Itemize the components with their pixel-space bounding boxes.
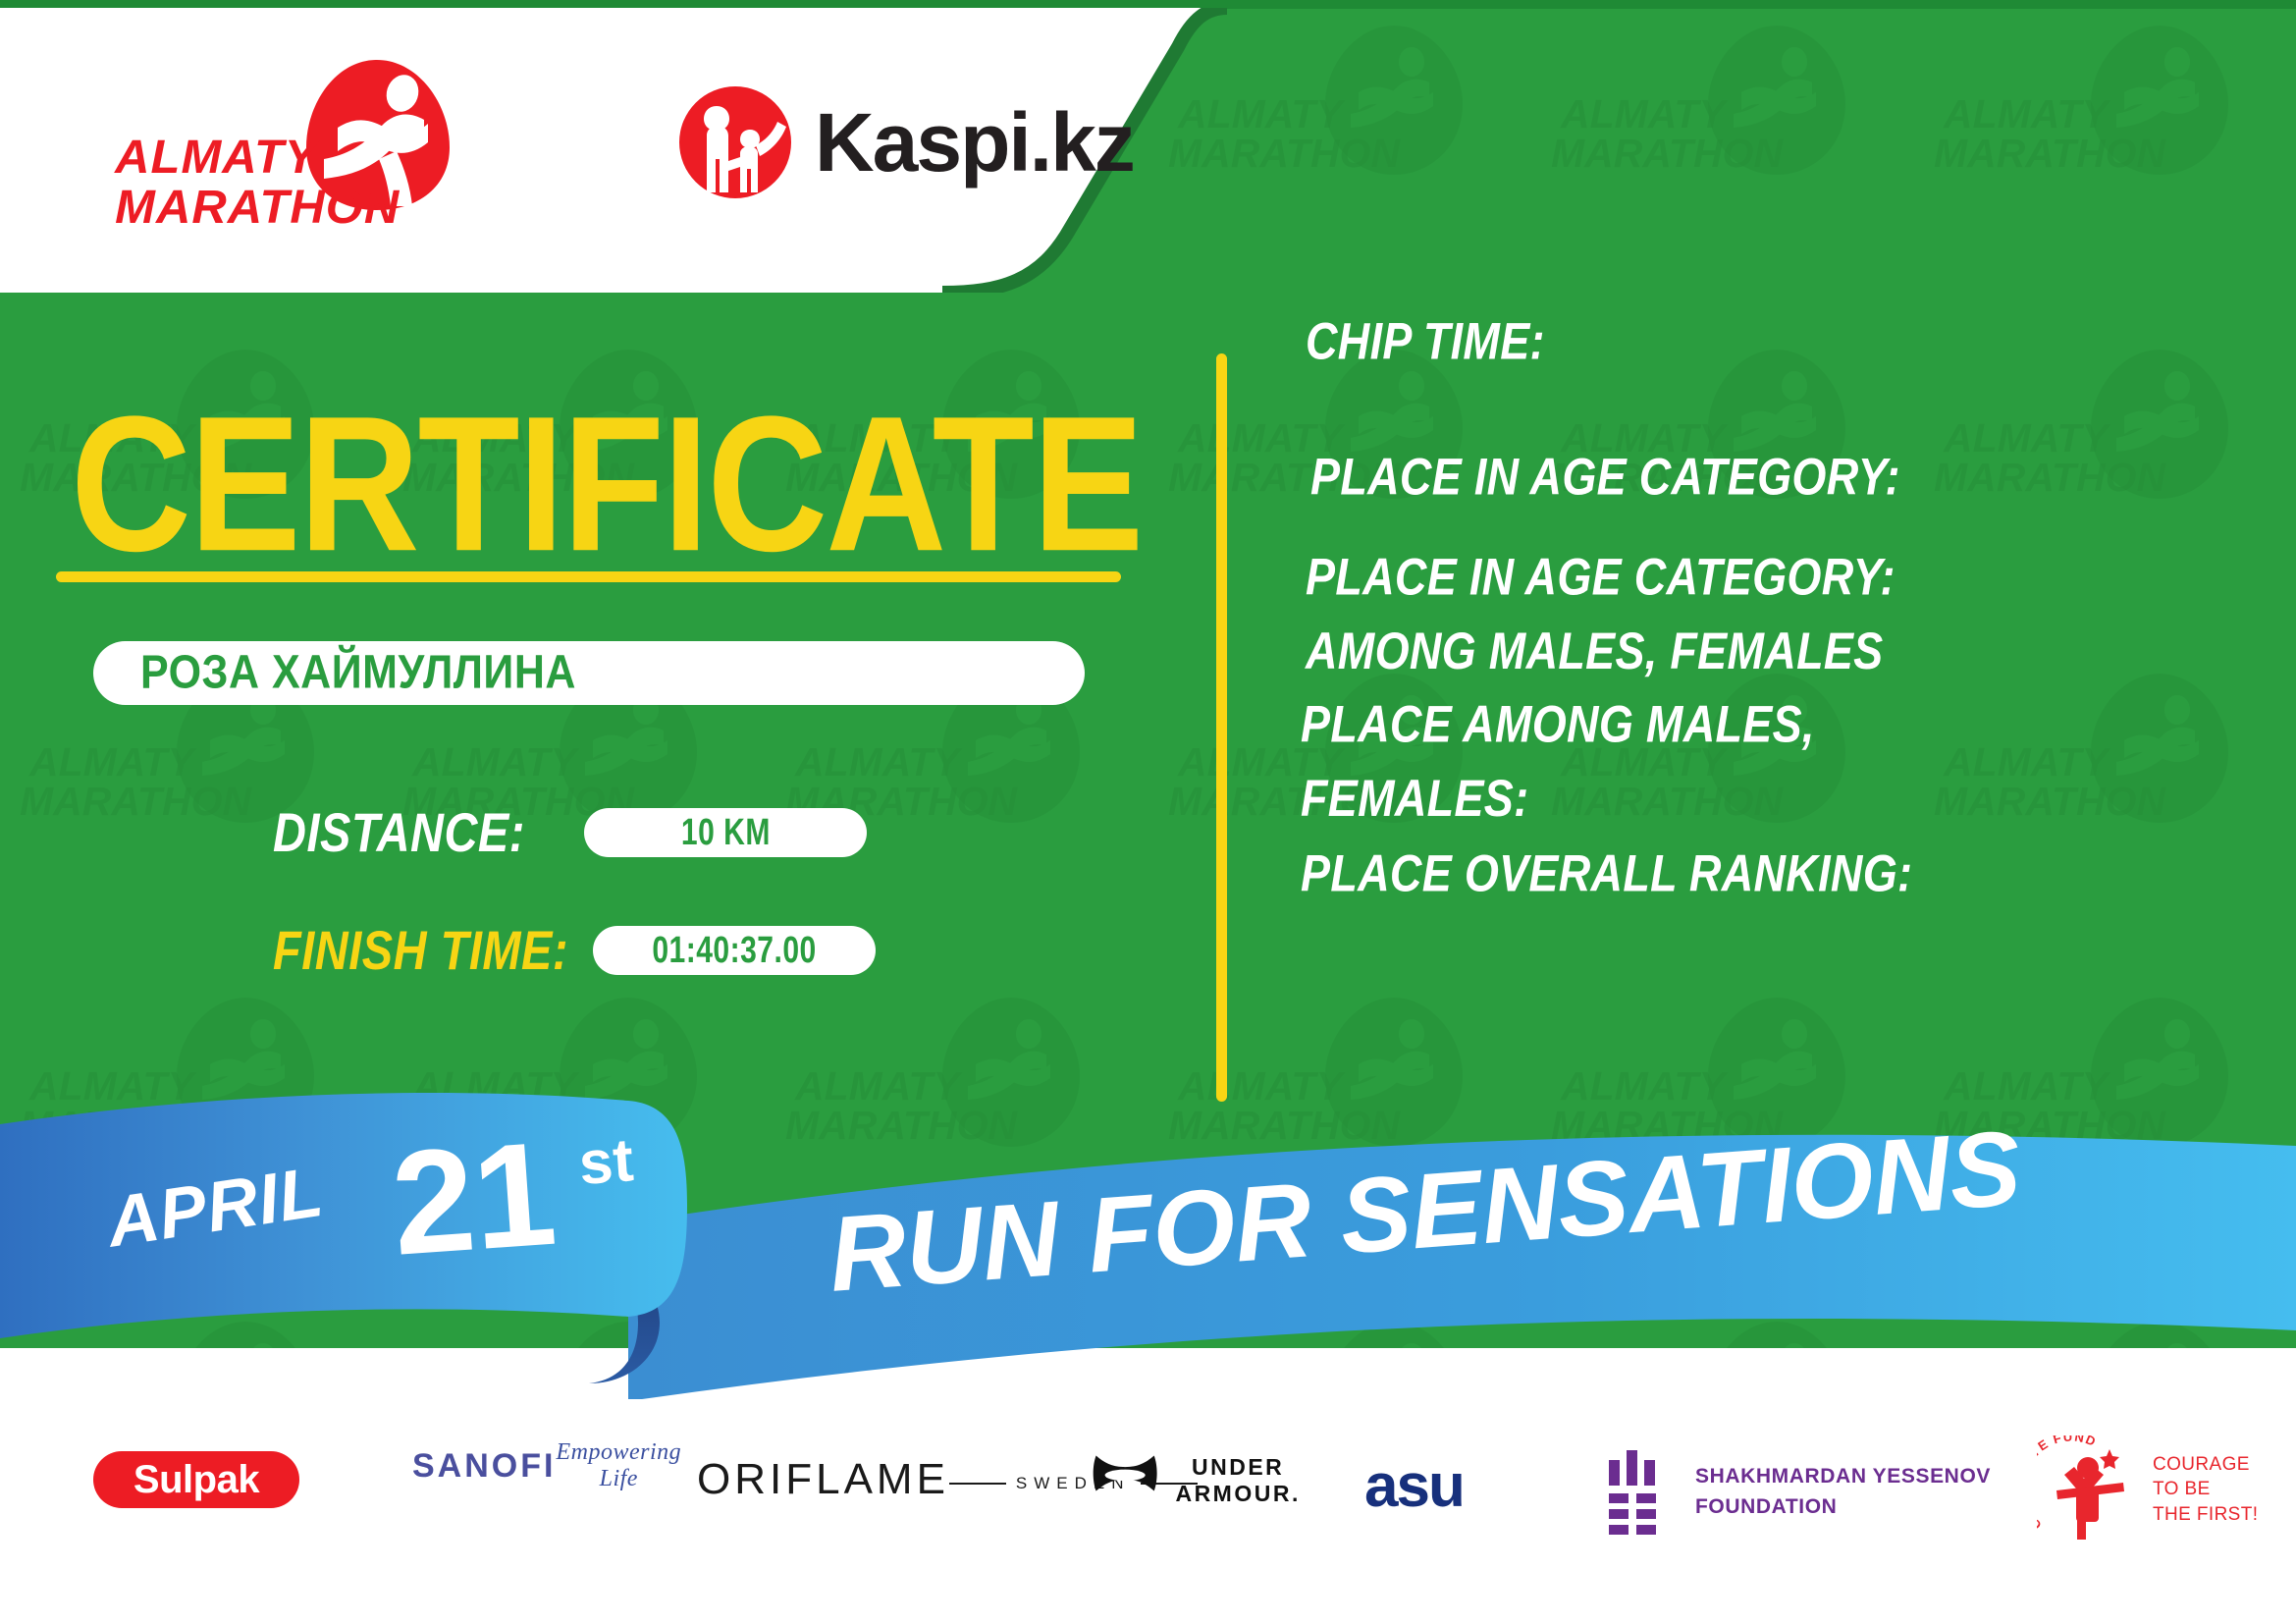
finish-time-label: FINISH TIME: — [273, 918, 568, 982]
kaspi-wordmark: Kaspi.kz — [815, 95, 1134, 190]
distance-label: DISTANCE: — [273, 800, 525, 864]
sanofi-tagline: Empowering Life — [556, 1439, 681, 1492]
stat-row-finish-time: FINISH TIME: 01:40:37.00 — [273, 923, 876, 977]
sponsor-logo-corporate-fund: CORPORATE FUND COURAGE TO BE THE FIRST! — [2037, 1435, 2258, 1543]
column-divider — [1216, 353, 1227, 1102]
finish-time-value-pill: 01:40:37.00 — [593, 926, 876, 975]
result-row-place-among-gender: PLACE AMONG MALES, FEMALES: 3583 — [1301, 687, 1815, 813]
place-age-category-gender-label: PLACE IN AGE CATEGORY: AMONG MALES, FEMA… — [1306, 540, 1896, 688]
kaspi-logo: Kaspi.kz — [677, 84, 1134, 200]
almaty-marathon-wordmark: ALMATY MARATHON — [115, 134, 400, 234]
yessenov-foundation-wordmark: SHAKHMARDAN YESSENOV FOUNDATION — [1695, 1461, 1991, 1523]
place-overall-label: PLACE OVERALL RANKING: — [1301, 837, 1912, 910]
finish-time-value: 01:40:37.00 — [652, 928, 816, 971]
distance-value: 10 KM — [680, 810, 770, 853]
logo-line-almaty: ALMATY — [115, 134, 400, 184]
title-underline — [56, 571, 1121, 582]
certificate-canvas: ALMATY MARATHON — [0, 0, 2296, 1624]
left-column: CERTIFICATE РОЗА ХАЙМУЛЛИНА DISTANCE: 10… — [0, 295, 1158, 1110]
result-row-place-age-category: PLACE IN AGE CATEGORY: 6528 — [1310, 440, 1900, 503]
under-armour-icon — [1085, 1441, 1165, 1514]
result-row-place-age-category-gender: PLACE IN AGE CATEGORY: AMONG MALES, FEMA… — [1306, 540, 1896, 666]
sulpak-wordmark: Sulpak — [133, 1458, 259, 1502]
results-column: CHIP TIME: 01:40:24.00 PLACE IN AGE CATE… — [1276, 295, 2296, 1110]
sanofi-wordmark: SANOFI — [412, 1447, 556, 1486]
kaspi-people-icon — [677, 84, 793, 200]
courage-tagline: COURAGE TO BE THE FIRST! — [2153, 1452, 2258, 1528]
asu-wordmark: asu — [1364, 1451, 1464, 1521]
header-logos: ALMATY MARATHON Kaspi.kz — [0, 16, 1178, 300]
oriflame-wordmark: ORIFLAME — [697, 1455, 949, 1504]
sponsor-logo-yessenov-foundation: SHAKHMARDAN YESSENOV FOUNDATION — [1605, 1448, 1991, 1535]
courage-runner-icon: CORPORATE FUND — [2037, 1435, 2139, 1543]
participant-name-value: РОЗА ХАЙМУЛЛИНА — [93, 646, 576, 700]
almaty-marathon-logo: ALMATY MARATHON — [118, 57, 432, 234]
chip-time-label: CHIP TIME: — [1306, 304, 1545, 378]
sponsor-logo-oriflame: ORIFLAME SWEDEN — [697, 1455, 982, 1504]
header-panel: ALMATY MARATHON Kaspi.kz — [0, 8, 1423, 293]
sponsor-logo-sanofi: SANOFI Empowering Life — [412, 1434, 638, 1494]
sponsor-logo-under-armour: UNDER ARMOUR. — [1085, 1441, 1310, 1514]
place-age-category-label: PLACE IN AGE CATEGORY: — [1310, 440, 1900, 514]
result-row-chip-time: CHIP TIME: 01:40:24.00 — [1306, 304, 1545, 367]
distance-value-pill: 10 KM — [584, 808, 867, 857]
ribbon-day-suffix: st — [577, 1125, 636, 1199]
sponsor-logo-asu: asu — [1364, 1451, 1464, 1521]
place-among-gender-label: PLACE AMONG MALES, FEMALES: — [1301, 687, 1815, 836]
yessenov-bars-icon — [1605, 1448, 1670, 1535]
participant-name-field: РОЗА ХАЙМУЛЛИНА — [93, 641, 1085, 705]
under-armour-wordmark: UNDER ARMOUR. — [1165, 1454, 1310, 1507]
page-title: CERTIFICATE — [71, 388, 1142, 580]
logo-line-marathon: MARATHON — [115, 184, 400, 234]
result-row-place-overall: PLACE OVERALL RANKING: 6826 — [1301, 837, 1912, 899]
sponsor-logo-sulpak: Sulpak — [93, 1451, 299, 1508]
ribbon-day: 21 — [387, 1109, 561, 1289]
stat-row-distance: DISTANCE: 10 KM — [273, 805, 867, 859]
